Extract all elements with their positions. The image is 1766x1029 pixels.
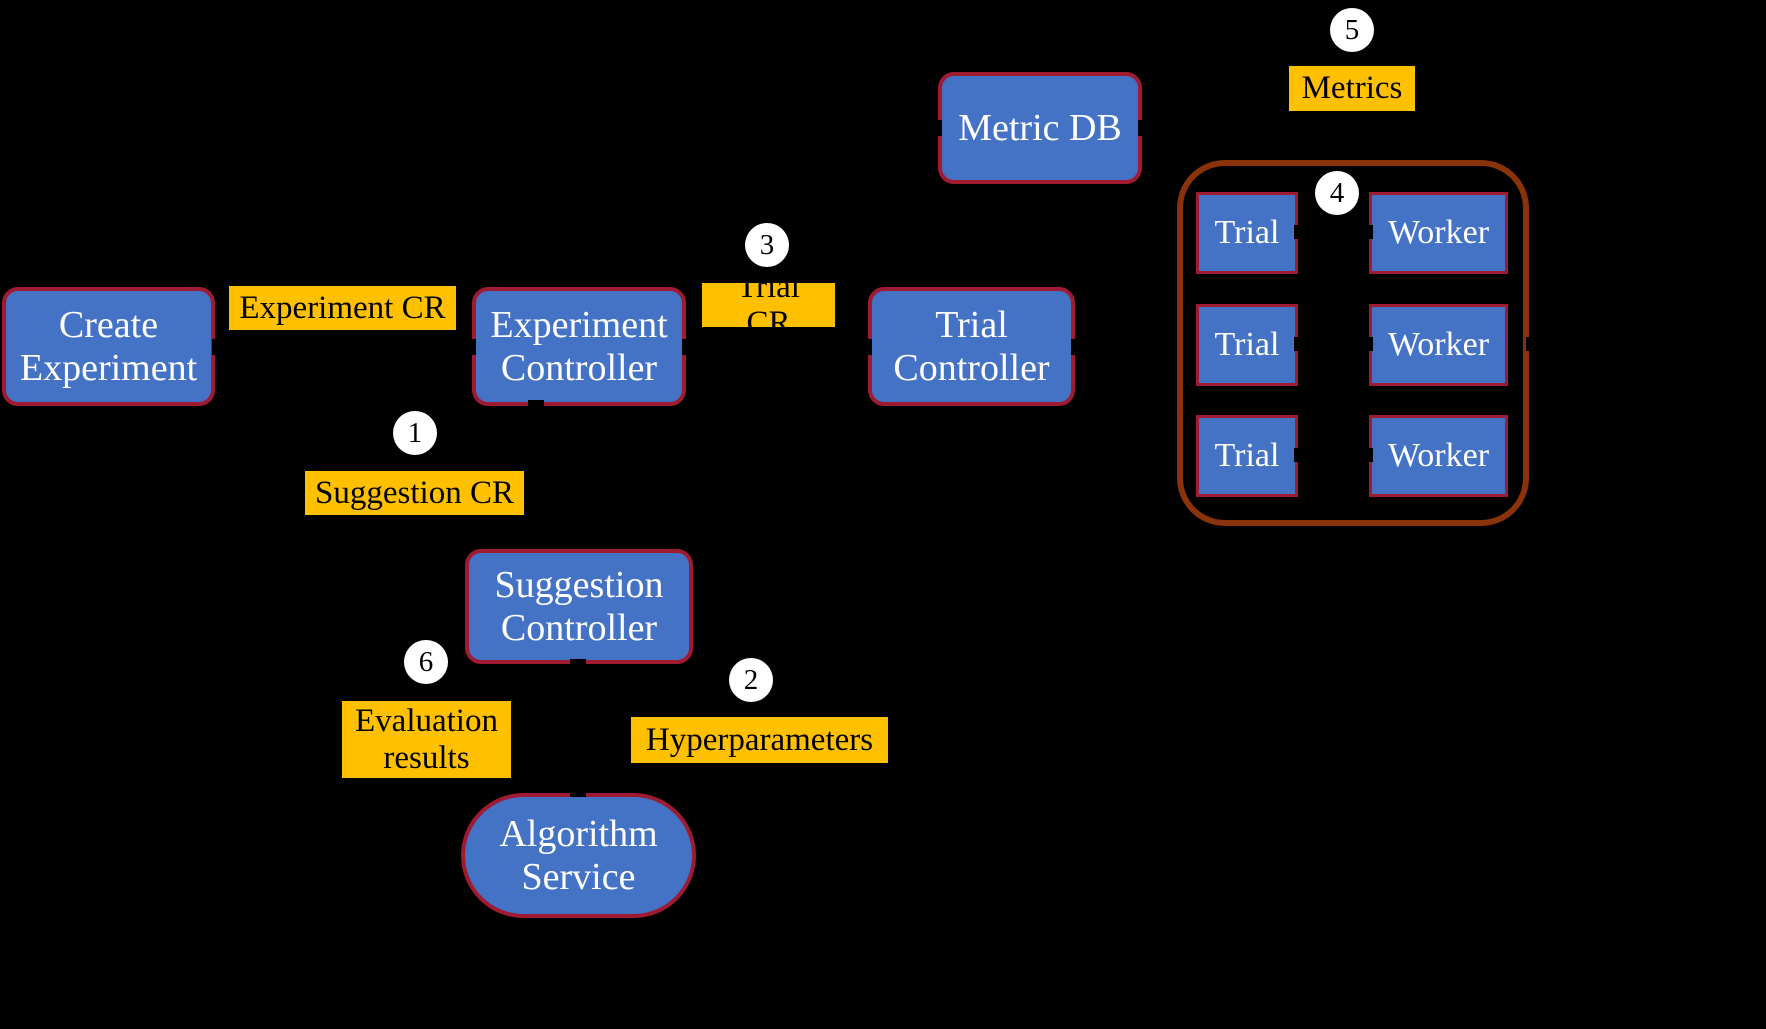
- diagram-canvas: Create Experiment Experiment Controller …: [0, 0, 1766, 1029]
- connector-stub-experiment-controller-left: [468, 339, 476, 355]
- badge-step-4-number: 4: [1330, 179, 1345, 208]
- cell-worker-1[interactable]: Worker: [1369, 192, 1508, 274]
- label-metrics-text: Metrics: [1302, 70, 1403, 106]
- node-create-experiment-label: Create Experiment: [20, 304, 197, 389]
- connector-stub-worker-cell-3-left: [1365, 448, 1373, 462]
- badge-step-1: 1: [393, 411, 437, 455]
- connector-stub-worker-cell-2-left: [1365, 337, 1373, 351]
- connector-stub-algorithm-service-top: [570, 789, 586, 797]
- cell-trial-2[interactable]: Trial: [1196, 304, 1298, 386]
- badge-step-6-number: 6: [419, 648, 434, 677]
- label-hyperparameters-text: Hyperparameters: [646, 722, 873, 758]
- node-algorithm-service[interactable]: Algorithm Service: [461, 793, 696, 918]
- connector-stub-trial-cell-2-right: [1294, 337, 1302, 351]
- node-metric-db[interactable]: Metric DB: [938, 72, 1142, 184]
- connector-stub-trial-cell-3-right: [1294, 448, 1302, 462]
- node-experiment-controller[interactable]: Experiment Controller: [472, 287, 686, 406]
- connector-stub-trial-cell-1-right: [1294, 225, 1302, 239]
- cell-worker-3[interactable]: Worker: [1369, 415, 1508, 497]
- connector-stub-experiment-controller-bottom: [528, 400, 544, 408]
- connector-stub-trial-controller-left: [864, 339, 872, 355]
- label-hyperparameters: Hyperparameters: [631, 717, 888, 763]
- connector-stub-trial-controller-right: [1071, 339, 1079, 355]
- badge-step-3: 3: [745, 223, 789, 267]
- node-suggestion-controller[interactable]: Suggestion Controller: [465, 549, 693, 664]
- label-suggestion-cr: Suggestion CR: [305, 471, 524, 515]
- label-experiment-cr-text: Experiment CR: [239, 290, 445, 326]
- connector-stub-suggestion-controller-bottom: [570, 659, 586, 667]
- badge-step-1-number: 1: [408, 419, 423, 448]
- badge-step-2-number: 2: [744, 666, 759, 695]
- label-trial-cr: Trial CR: [702, 283, 835, 327]
- cell-trial-2-label: Trial: [1215, 326, 1280, 364]
- node-trial-controller-label: Trial Controller: [893, 304, 1049, 389]
- badge-step-3-number: 3: [760, 231, 775, 260]
- label-trial-cr-text: Trial CR: [712, 269, 825, 342]
- node-algorithm-service-label: Algorithm Service: [499, 813, 657, 898]
- cell-worker-1-label: Worker: [1388, 214, 1489, 252]
- node-experiment-controller-label: Experiment Controller: [490, 304, 667, 389]
- connector-stub-metric-db-right: [1138, 120, 1146, 136]
- cell-worker-2-label: Worker: [1388, 326, 1489, 364]
- cell-trial-3-label: Trial: [1215, 437, 1280, 475]
- cell-trial-3[interactable]: Trial: [1196, 415, 1298, 497]
- cell-worker-3-label: Worker: [1388, 437, 1489, 475]
- node-metric-db-label: Metric DB: [958, 107, 1122, 150]
- connector-stub-experiment-controller-right: [682, 339, 690, 355]
- label-evaluation-results: Evaluation results: [342, 701, 511, 778]
- node-trial-controller[interactable]: Trial Controller: [868, 287, 1075, 406]
- cell-trial-1-label: Trial: [1215, 214, 1280, 252]
- badge-step-5: 5: [1330, 8, 1374, 52]
- connector-stub-metric-db-left: [934, 120, 942, 136]
- cell-worker-2[interactable]: Worker: [1369, 304, 1508, 386]
- node-suggestion-controller-label: Suggestion Controller: [495, 564, 664, 649]
- badge-step-6: 6: [404, 640, 448, 684]
- badge-step-4: 4: [1315, 171, 1359, 215]
- connector-stub-worker-cell-1-left: [1365, 225, 1373, 239]
- label-suggestion-cr-text: Suggestion CR: [315, 475, 514, 511]
- label-evaluation-results-text: Evaluation results: [355, 703, 498, 776]
- connector-stub-group-right: [1526, 337, 1536, 351]
- cell-trial-1[interactable]: Trial: [1196, 192, 1298, 274]
- connector-stub-create-experiment-right: [212, 339, 220, 355]
- label-metrics: Metrics: [1289, 66, 1415, 111]
- node-create-experiment[interactable]: Create Experiment: [2, 287, 215, 406]
- badge-step-5-number: 5: [1345, 16, 1360, 45]
- badge-step-2: 2: [729, 658, 773, 702]
- label-experiment-cr: Experiment CR: [229, 286, 456, 330]
